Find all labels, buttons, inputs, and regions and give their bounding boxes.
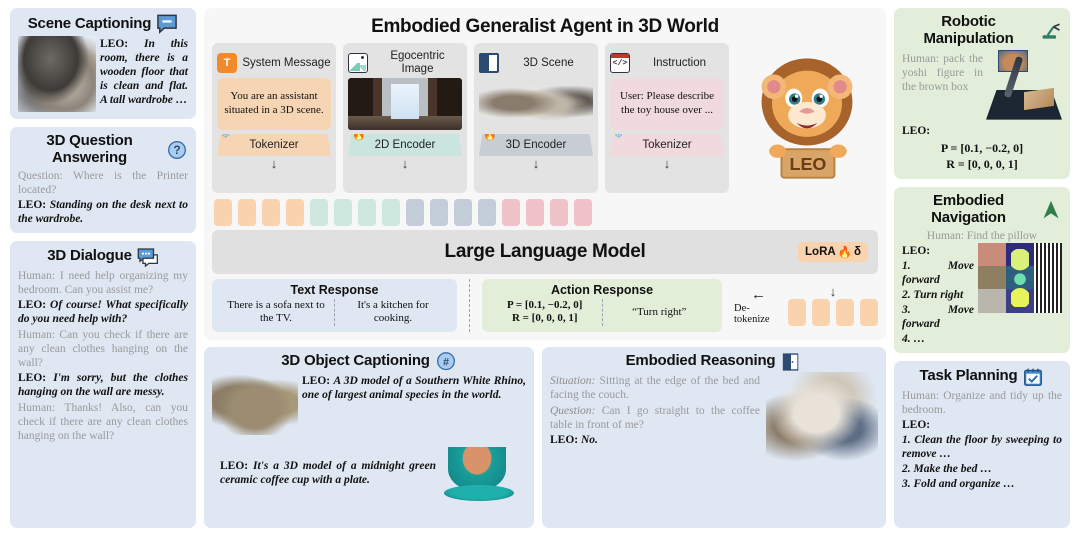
flow-arrow-icon: ↓ xyxy=(479,157,593,171)
token xyxy=(430,199,448,226)
detokenize-label: De-tokenize xyxy=(734,303,783,325)
fire-icon: 🔥 xyxy=(352,130,366,141)
panel-3d-object-captioning: 3D Object Captioning # LEO: A 3D model o… xyxy=(204,347,534,528)
input-label: Instruction xyxy=(635,57,724,70)
lora-badge: LoRA 🔥 δ xyxy=(798,242,868,262)
scene-mesh-thumbnail xyxy=(479,78,593,130)
panel-title: Robotic Manipulation xyxy=(902,14,1035,48)
qa-question: Question: Where is the Printer located? xyxy=(18,169,188,197)
leo-prefix: LEO: xyxy=(550,434,578,446)
token xyxy=(478,199,496,226)
chat-bubble-icon xyxy=(156,14,178,34)
navigation-arrow-icon xyxy=(1040,200,1062,220)
panel-title: Embodied Navigation xyxy=(902,193,1035,227)
panel-robotic-manipulation: Robotic Manipulation Human: pack the yos… xyxy=(894,8,1070,179)
encoder-label: 3D Encoder xyxy=(506,139,567,151)
panel-header: 3D Question Answering ? xyxy=(18,133,188,167)
leo-prefix: LEO: xyxy=(902,125,930,137)
code-icon: </> xyxy=(610,53,630,73)
input-header: T System Message xyxy=(217,48,331,78)
planning-human-text: Human: Organize and tidy up the bedroom. xyxy=(902,389,1062,417)
panel-embodied-navigation: Embodied Navigation Human: Find the pill… xyxy=(894,187,1070,353)
inputs-row: T System Message You are an assistant si… xyxy=(212,43,878,193)
input-card-system-message: T System Message You are an assistant si… xyxy=(212,43,336,193)
lora-delta: δ xyxy=(854,246,861,258)
leo-prefix: LEO: xyxy=(18,299,46,311)
question-circle-icon: ? xyxy=(166,140,188,160)
action-pose: P = [0.1, −0.2, 0] R = [0, 0, 0, 1] xyxy=(488,299,602,326)
center-column: Embodied Generalist Agent in 3D World T … xyxy=(204,8,886,528)
input-label: Egocentric Image xyxy=(373,50,462,75)
navigation-step: 2. Turn right xyxy=(902,288,974,302)
panel-title: Embodied Reasoning xyxy=(626,353,776,370)
reasoning-body: Situation: Sitting at the edge of the be… xyxy=(550,372,878,464)
encoder-3d: 🔥 3D Encoder xyxy=(479,134,593,156)
navigation-human-text: Human: Find the pillow xyxy=(902,229,1062,243)
navigation-body: LEO: 1. Move forward 2. Turn right 3. Mo… xyxy=(902,243,1062,346)
encoder-tokenizer: ❄ Tokenizer xyxy=(610,134,724,156)
planning-step: 3. Fold and organize … xyxy=(902,477,1062,491)
navigation-step: 4. … xyxy=(902,332,974,346)
robotic-human-text: Human: pack the yoshi figure in the brow… xyxy=(902,52,983,124)
panel-task-planning: Task Planning Human: Organize and tidy u… xyxy=(894,361,1070,528)
token xyxy=(502,199,520,226)
lion-mascot-icon: LEO xyxy=(736,43,878,193)
panel-embodied-reasoning: Embodied Reasoning Situation: Sitting at… xyxy=(542,347,886,528)
encoder-label: 2D Encoder xyxy=(375,139,436,151)
action-response-card: Action Response P = [0.1, −0.2, 0] R = [… xyxy=(482,279,722,332)
room-mesh-thumbnail xyxy=(766,372,878,464)
scene-caption-text: LEO: In this room, there is a wooden flo… xyxy=(100,37,188,107)
leo-prefix: LEO: xyxy=(902,244,974,258)
svg-text:LEO: LEO xyxy=(789,154,826,174)
panel-header: Task Planning xyxy=(902,367,1062,387)
page-title: Embodied Generalist Agent in 3D World xyxy=(212,16,878,38)
token xyxy=(310,199,328,226)
encoder-label: Tokenizer xyxy=(249,139,298,151)
left-arrow-icon: ← xyxy=(751,286,766,303)
robotic-pose-p: P = [0.1, −0.2, 0] xyxy=(902,140,1062,156)
object-caption-rhino: LEO: A 3D model of a Southern White Rhin… xyxy=(212,373,526,435)
egocentric-image-thumbnail xyxy=(348,78,462,130)
leo-prefix: LEO: xyxy=(18,199,46,211)
navigation-step: 3. Move forward xyxy=(902,303,974,331)
token xyxy=(454,199,472,226)
lora-label: LoRA xyxy=(805,246,836,258)
svg-text:#: # xyxy=(443,356,449,368)
flow-arrow-icon: ↓ xyxy=(348,157,462,171)
llm-bar: Large Language Model LoRA 🔥 δ xyxy=(212,230,878,274)
token xyxy=(526,199,544,226)
chat-bubbles-icon xyxy=(137,247,159,267)
dialogue-turn: Human: Can you check if there are any cl… xyxy=(18,328,188,370)
llm-label: Large Language Model xyxy=(445,241,646,263)
leo-text: It's a 3D model of a midnight green cera… xyxy=(220,460,436,486)
leo-prefix: LEO: xyxy=(18,372,46,384)
robotic-pose-r: R = [0, 0, 0, 1] xyxy=(902,156,1062,172)
output-token xyxy=(860,299,878,326)
input-body-text: You are an assistant situated in a 3D sc… xyxy=(217,78,331,130)
fire-icon: 🔥 xyxy=(838,245,852,259)
left-column: Scene Captioning LEO: In this room, ther… xyxy=(10,8,196,528)
object-caption-text: LEO: It's a 3D model of a midnight green… xyxy=(212,459,436,487)
panel-title: 3D Object Captioning xyxy=(281,353,430,370)
text-badge-icon: T xyxy=(217,53,237,73)
output-tokens: ↓ xyxy=(788,284,878,326)
token xyxy=(262,199,280,226)
panel-header: 3D Dialogue xyxy=(18,247,188,267)
encoder-label: Tokenizer xyxy=(642,139,691,151)
token-strip xyxy=(212,193,878,230)
input-body-text: User: Please describe the toy house over… xyxy=(610,78,724,130)
panel-header: Embodied Navigation xyxy=(902,193,1062,227)
planning-step: 2. Make the bed … xyxy=(902,462,1062,476)
leo-prefix: LEO: xyxy=(100,38,128,50)
input-card-egocentric-image: Egocentric Image 🔥 2D Encoder ↓ xyxy=(343,43,467,193)
reasoning-text: Situation: Sitting at the edge of the be… xyxy=(550,372,760,464)
token xyxy=(286,199,304,226)
encoder-tokenizer: ❄ Tokenizer xyxy=(217,134,331,156)
object-caption-text: LEO: A 3D model of a Southern White Rhin… xyxy=(302,374,526,402)
panel-header: 3D Object Captioning # xyxy=(212,352,526,372)
dialogue-turn: Human: I need help organizing my bedroom… xyxy=(18,269,188,297)
token xyxy=(574,199,592,226)
token xyxy=(214,199,232,226)
question-label: Question: xyxy=(550,405,595,417)
panel-header: Scene Captioning xyxy=(18,14,188,34)
door-icon xyxy=(479,53,499,73)
calendar-check-icon xyxy=(1022,367,1044,387)
poster-root: Scene Captioning LEO: In this room, ther… xyxy=(0,0,1080,536)
text-response-title: Text Response xyxy=(218,283,451,297)
action-response-title: Action Response xyxy=(488,283,716,297)
scene-mesh-thumbnail xyxy=(18,36,96,112)
input-header: </> Instruction xyxy=(610,48,724,78)
pose-p: P = [0.1, −0.2, 0] xyxy=(507,299,582,311)
qa-answer: LEO: Standing on the desk next to the wa… xyxy=(18,198,188,226)
leo-prefix: LEO: xyxy=(902,418,1062,432)
navigation-step: 1. Move forward xyxy=(902,259,974,287)
input-card-3d-scene: 3D Scene 🔥 3D Encoder ↓ xyxy=(474,43,598,193)
input-card-instruction: </> Instruction User: Please describe th… xyxy=(605,43,729,193)
robotic-body: Human: pack the yoshi figure in the brow… xyxy=(902,50,1062,124)
robot-scene-thumbnail xyxy=(986,50,1062,124)
panel-header: Embodied Reasoning xyxy=(550,352,878,372)
dialogue-turn: LEO: Of course! What specifically do you… xyxy=(18,298,188,326)
scene-caption-body: LEO: In this room, there is a wooden flo… xyxy=(18,36,188,112)
bottom-row: 3D Object Captioning # LEO: A 3D model o… xyxy=(204,347,886,528)
input-header: Egocentric Image xyxy=(348,48,462,78)
navigation-filmstrip xyxy=(978,243,1062,313)
leo-mascot: LEO xyxy=(736,43,878,193)
svg-text:?: ? xyxy=(173,144,180,157)
responses-row: Text Response There is a sofa next to th… xyxy=(212,279,878,332)
output-token xyxy=(836,299,854,326)
leo-prefix: LEO: xyxy=(302,375,330,387)
token xyxy=(238,199,256,226)
panel-scene-captioning: Scene Captioning LEO: In this room, ther… xyxy=(10,8,196,119)
token xyxy=(358,199,376,226)
navigation-steps: LEO: 1. Move forward 2. Turn right 3. Mo… xyxy=(902,243,974,346)
pipeline-card: Embodied Generalist Agent in 3D World T … xyxy=(204,8,886,340)
panel-title: Task Planning xyxy=(920,368,1018,385)
divider xyxy=(469,279,470,332)
situation-label: Situation: xyxy=(550,375,595,387)
text-response-item: There is a sofa next to the TV. xyxy=(218,299,334,326)
input-header: 3D Scene xyxy=(479,48,593,78)
detokenize-group: ← De-tokenize ↓ xyxy=(732,279,878,332)
flow-arrow-icon: ↓ xyxy=(217,157,331,171)
snowflake-icon: ❄ xyxy=(221,130,230,141)
encoder-2d: 🔥 2D Encoder xyxy=(348,134,462,156)
text-response-item: It's a kitchen for cooking. xyxy=(334,299,451,326)
snowflake-icon: ❄ xyxy=(614,130,623,141)
panel-title: 3D Question Answering xyxy=(18,133,161,167)
dialogue-turn: LEO: I'm sorry, but the clothes hanging … xyxy=(18,371,188,399)
hash-bubble-icon: # xyxy=(435,352,457,372)
robotic-leo-prefix: LEO: xyxy=(902,124,1062,138)
reasoning-situation: Situation: Sitting at the edge of the be… xyxy=(550,374,760,402)
token xyxy=(382,199,400,226)
panel-title: 3D Dialogue xyxy=(47,248,131,265)
input-label: 3D Scene xyxy=(504,57,593,70)
panel-3d-question-answering: 3D Question Answering ? Question: Where … xyxy=(10,127,196,233)
token xyxy=(550,199,568,226)
token xyxy=(334,199,352,226)
robot-arm-icon xyxy=(1040,21,1062,41)
token xyxy=(406,199,424,226)
text-response-card: Text Response There is a sofa next to th… xyxy=(212,279,457,332)
dialogue-turn: Human: Thanks! Also, can you check if th… xyxy=(18,401,188,443)
output-token xyxy=(812,299,830,326)
right-column: Robotic Manipulation Human: pack the yos… xyxy=(894,8,1070,528)
reasoning-answer: LEO: No. xyxy=(550,433,760,447)
leo-text: No. xyxy=(581,434,598,446)
panel-title: Scene Captioning xyxy=(28,16,151,33)
fire-icon: 🔥 xyxy=(483,130,497,141)
down-arrow-icon: ↓ xyxy=(830,284,837,299)
flow-arrow-icon: ↓ xyxy=(610,157,724,171)
leo-prefix: LEO: xyxy=(220,460,248,472)
door-icon xyxy=(780,352,802,372)
input-label: System Message xyxy=(242,57,331,70)
reasoning-question: Question: Can I go straight to the coffe… xyxy=(550,404,760,432)
rhino-thumbnail xyxy=(212,373,298,435)
output-token xyxy=(788,299,806,326)
object-caption-cup: LEO: It's a 3D model of a midnight green… xyxy=(212,441,526,505)
leo-text: A 3D model of a Southern White Rhino, on… xyxy=(302,375,526,401)
planning-step: 1. Clean the floor by sweeping to remove… xyxy=(902,433,1062,461)
panel-3d-dialogue: 3D Dialogue Human: I need help organizin… xyxy=(10,241,196,528)
coffee-cup-thumbnail xyxy=(440,441,526,505)
panel-header: Robotic Manipulation xyxy=(902,14,1062,48)
pose-r: R = [0, 0, 0, 1] xyxy=(512,312,578,324)
action-utterance: “Turn right” xyxy=(602,299,717,326)
image-icon xyxy=(348,53,368,73)
